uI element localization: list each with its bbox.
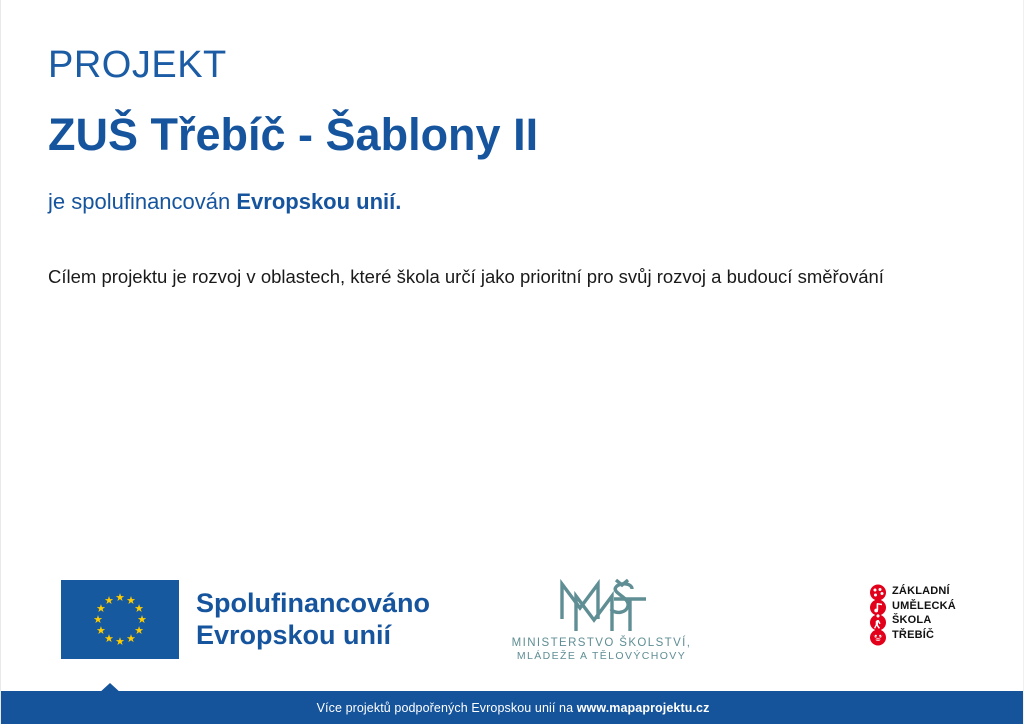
msmt-line-1: MINISTERSTVO ŠKOLSTVÍ, — [494, 637, 709, 649]
eu-logo-line-2: Evropskou unií — [196, 620, 430, 652]
school-logo-line-4: TŘEBÍČ — [892, 628, 956, 643]
page-kicker: PROJEKT — [48, 46, 968, 86]
project-description: Cílem projektu je rozvoj v oblastech, kt… — [48, 264, 948, 290]
school-logo-line-2: UMĚLECKÁ — [892, 599, 956, 614]
eu-logo: Spolufinancováno Evropskou unií — [61, 580, 430, 659]
heading-block: PROJEKT ZUŠ Třebíč - Šablony II je spolu… — [48, 46, 968, 216]
funding-subtitle: je spolufinancován Evropskou unií. — [48, 189, 968, 215]
footer-bar: Více projektů podpořených Evropskou unií… — [1, 691, 1024, 724]
school-logo-line-3: ŠKOLA — [892, 613, 956, 628]
school-logo-text: ZÁKLADNÍ UMĚLECKÁ ŠKOLA TŘEBÍČ — [892, 584, 956, 642]
funding-subtitle-emphasis: Evropskou unií. — [236, 189, 401, 214]
msmt-line-2: MLÁDEŽE A TĚLOVÝCHOVY — [494, 650, 709, 662]
funding-subtitle-prefix: je spolufinancován — [48, 189, 236, 214]
school-logo-line-1: ZÁKLADNÍ — [892, 584, 956, 599]
msmt-logo: MINISTERSTVO ŠKOLSTVÍ, MLÁDEŽE A TĚLOVÝC… — [494, 575, 709, 662]
eu-flag-icon — [61, 580, 179, 659]
logo-strip: Spolufinancováno Evropskou unií — [1, 565, 1024, 675]
footer-text: Více projektů podpořených Evropskou unií… — [317, 701, 710, 715]
school-logo: ZÁKLADNÍ UMĚLECKÁ ŠKOLA TŘEBÍČ — [867, 584, 956, 651]
eu-logo-line-1: Spolufinancováno — [196, 588, 430, 620]
footer-url[interactable]: www.mapaprojektu.cz — [577, 701, 710, 715]
footer-text-prefix: Více projektů podpořených Evropskou unií… — [317, 701, 577, 715]
eu-logo-text: Spolufinancováno Evropskou unií — [196, 588, 430, 652]
school-mark-icons — [867, 584, 889, 651]
msmt-monogram-icon — [550, 575, 654, 633]
page-title: ZUŠ Třebíč - Šablony II — [48, 111, 968, 160]
project-poster-slide: PROJEKT ZUŠ Třebíč - Šablony II je spolu… — [0, 0, 1024, 724]
